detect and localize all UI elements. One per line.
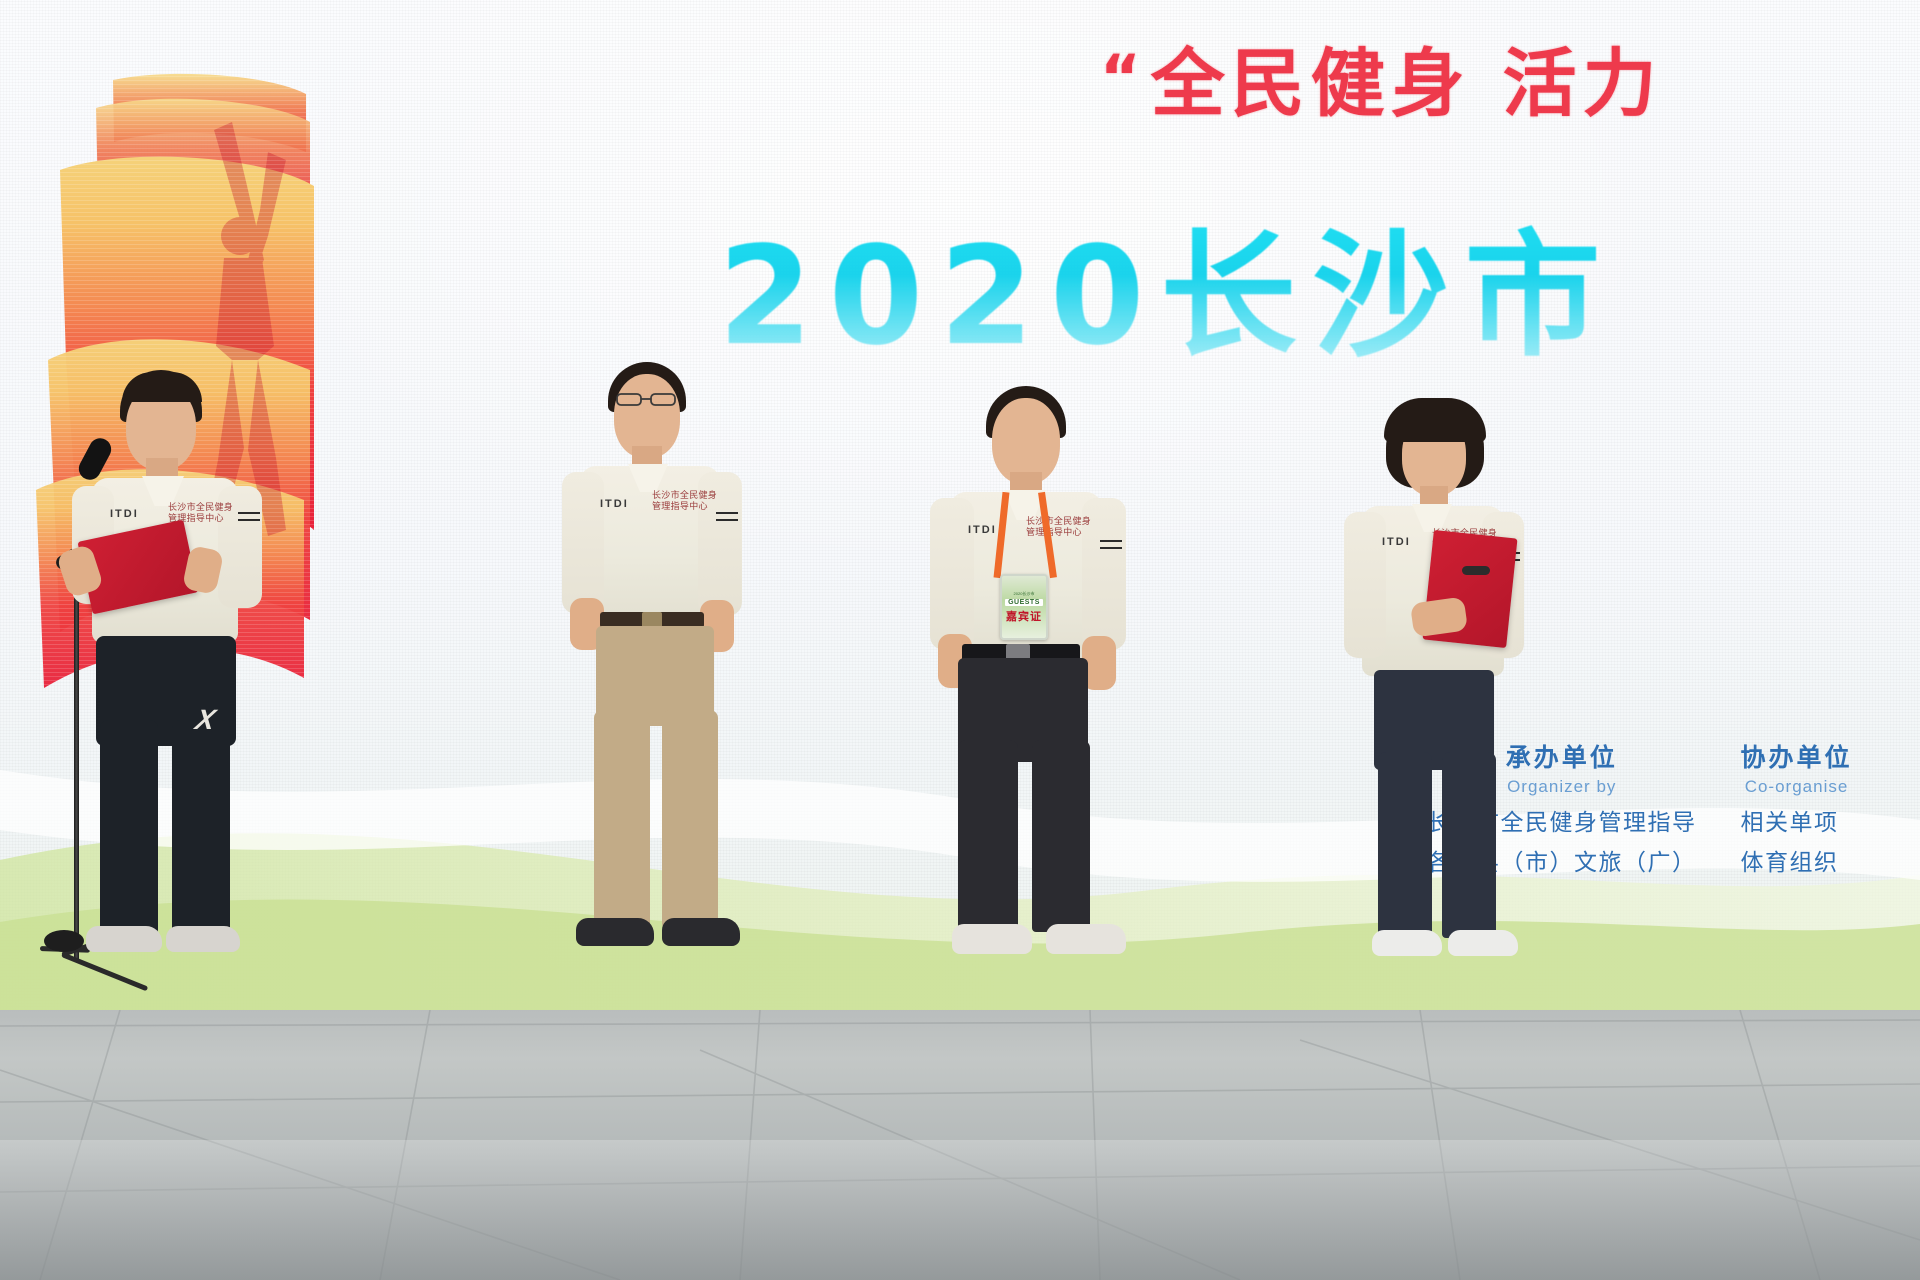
speaker-leg-left <box>100 720 158 940</box>
official4-hair-top <box>1384 398 1486 442</box>
official4-left-arm <box>1344 512 1386 658</box>
official3-sleeve-stripe-2 <box>1100 547 1122 549</box>
glasses-icon <box>614 392 680 406</box>
official2-sleeve-stripe-1 <box>716 512 738 514</box>
official4-leg-left <box>1378 752 1432 938</box>
official4-leg-right <box>1442 752 1496 938</box>
official4-shoe-left <box>1372 930 1442 956</box>
official3-shirt-emblem: 长沙市全民健身 管理指导中心 <box>1026 516 1091 539</box>
speaker-shoe-left <box>86 926 162 952</box>
wristwatch-icon <box>1462 566 1490 575</box>
official2-sleeve-stripe-2 <box>716 519 738 521</box>
coorganizer-line-2: 体育组织 <box>1741 843 1853 877</box>
speaker-leg-right <box>172 720 230 940</box>
coorganizer-en-heading: Co-organise <box>1741 777 1853 797</box>
official3-shoe-left <box>952 924 1032 954</box>
speaker-sleeve-stripe-1 <box>238 512 260 514</box>
official4-shoe-right <box>1448 930 1518 956</box>
official3-leg-right <box>1032 740 1090 932</box>
photo-scene: “全民健身 活力 2020长沙市 承办单位 Organizer by 长沙市全民… <box>0 0 1920 1280</box>
floor-reflection-sheen <box>0 1140 1920 1280</box>
badge-en-label: GUESTS <box>1005 599 1043 606</box>
official2-leg-right <box>662 710 718 928</box>
official3-left-arm <box>930 498 974 650</box>
headline-text: 全民健身 活力 <box>1151 41 1663 127</box>
official3-sleeve-stripe-1 <box>1100 540 1122 542</box>
speaker-sleeve-stripe-2 <box>238 519 260 521</box>
coorganizer-line-1: 相关单项 <box>1741 803 1853 837</box>
badge-top-label: 2020长沙市 <box>1014 591 1035 597</box>
official2-shirt-emblem: 长沙市全民健身 管理指导中心 <box>652 490 717 513</box>
guest-badge: 2020长沙市 GUESTS 嘉宾证 <box>1000 574 1048 640</box>
mic-pole <box>74 560 79 960</box>
speaker-shirt-logo-text: ITDI <box>110 508 139 520</box>
tripod-hub <box>44 930 84 952</box>
speaker-shoe-right <box>166 926 240 952</box>
official2-shoe-right <box>662 918 740 946</box>
official2-shirt-logo-text: ITDI <box>600 498 629 510</box>
coorganizer-cn-heading: 协办单位 <box>1741 738 1853 774</box>
stage-floor <box>0 1010 1920 1280</box>
backdrop-main-title: 2020长沙市 <box>718 186 1617 383</box>
official2-leg-left <box>594 710 650 928</box>
headline-quote-mark: “ <box>1100 41 1147 114</box>
official3-leg-left <box>958 740 1018 932</box>
badge-cn-label: 嘉宾证 <box>1006 608 1042 624</box>
official3-shirt-logo-text: ITDI <box>968 524 997 536</box>
backdrop-headline: “全民健身 活力 <box>1100 24 1663 131</box>
credit-column-coorganizer: 协办单位 Co-organise 相关单项 体育组织 <box>1741 738 1853 877</box>
official2-left-arm <box>562 472 604 614</box>
official4-shirt-logo-text: ITDI <box>1382 536 1411 548</box>
official2-shoe-left <box>576 918 654 946</box>
official3-shoe-right <box>1046 924 1126 954</box>
